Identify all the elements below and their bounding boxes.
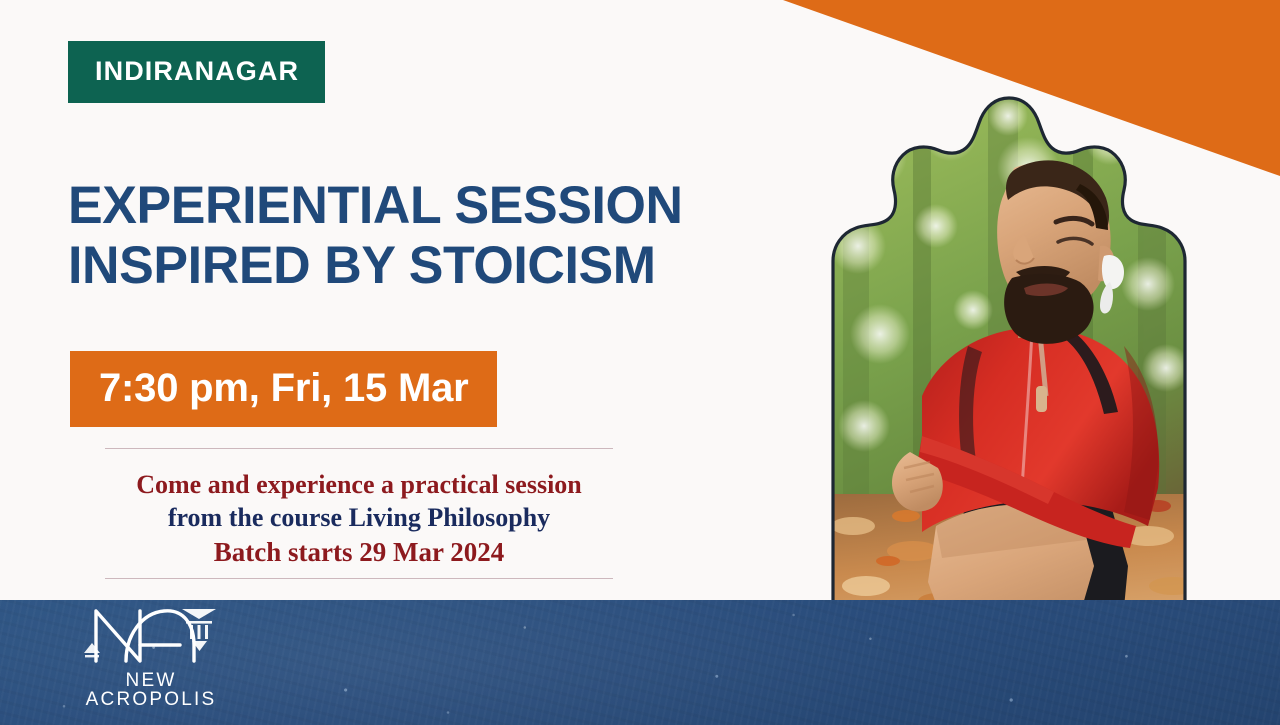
headline-line-1: EXPERIENTIAL SESSION: [68, 176, 683, 236]
speaker-photo: [818, 96, 1200, 670]
schedule-banner: 7:30 pm, Fri, 15 Mar: [70, 351, 497, 427]
event-poster: INDIRANAGAR EXPERIENTIAL SESSION INSPIRE…: [0, 0, 1280, 725]
brand-logo: NEW ACROPOLIS: [66, 595, 236, 709]
new-acropolis-monogram-icon: [66, 595, 236, 669]
page-title: EXPERIENTIAL SESSION INSPIRED BY STOICIS…: [68, 176, 683, 297]
description-line-1: Come and experience a practical session: [105, 469, 613, 502]
description-line-3: Batch starts 29 Mar 2024: [105, 535, 613, 569]
divider-bottom: [105, 578, 613, 579]
locality-badge: INDIRANAGAR: [68, 41, 325, 103]
event-description: Come and experience a practical session …: [105, 469, 613, 569]
divider-top: [105, 448, 613, 449]
brand-logo-text: NEW ACROPOLIS: [66, 671, 236, 709]
description-line-2: from the course Living Philosophy: [105, 502, 613, 535]
headline-line-2: INSPIRED BY STOICISM: [68, 236, 683, 296]
